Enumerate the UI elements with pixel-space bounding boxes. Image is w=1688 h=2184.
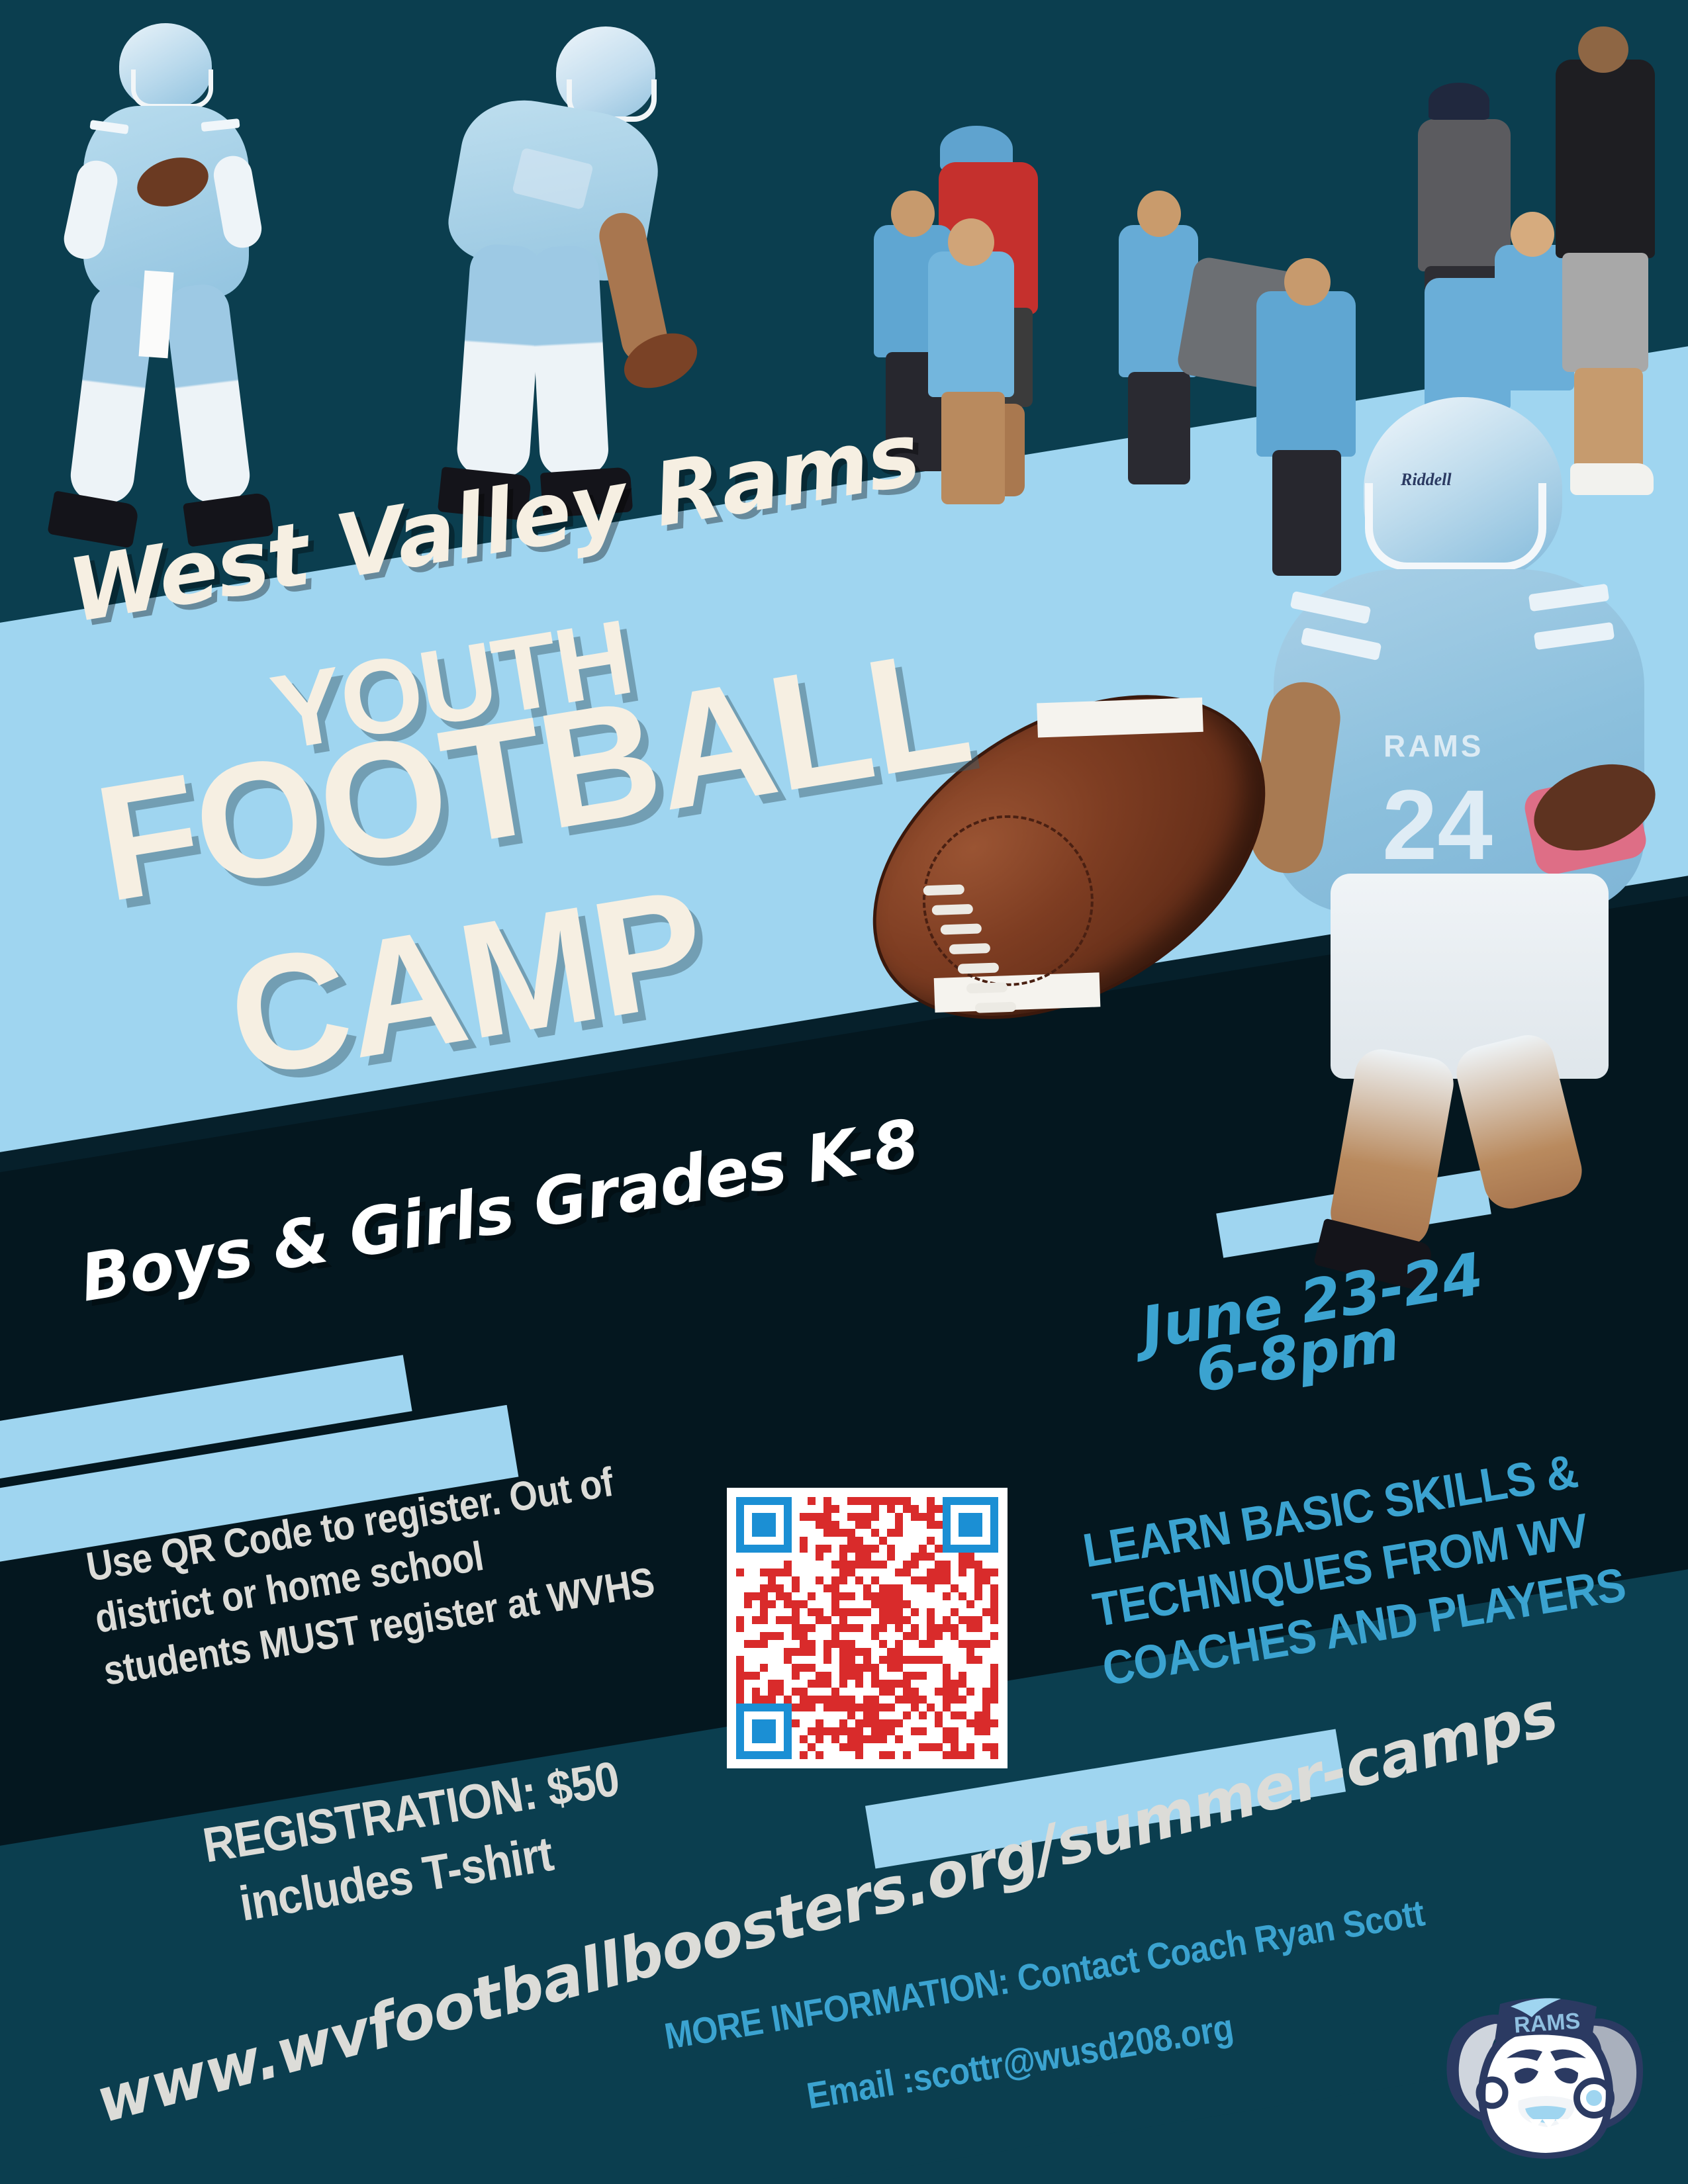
camp-teen-black-shirt: [1556, 60, 1655, 258]
qr-module: [744, 1696, 752, 1704]
football-stripe-top: [1037, 698, 1203, 738]
qr-module: [823, 1664, 831, 1672]
qr-module: [823, 1704, 831, 1711]
qr-module: [982, 1719, 990, 1727]
qr-module: [823, 1537, 831, 1545]
qr-module: [927, 1656, 935, 1664]
qr-module: [919, 1545, 927, 1553]
qr-module: [760, 1497, 768, 1505]
qr-module: [823, 1696, 831, 1704]
qr-module: [792, 1608, 800, 1616]
qr-module: [816, 1505, 823, 1513]
qr-module: [839, 1648, 847, 1656]
qr-module: [800, 1545, 808, 1553]
qr-module: [863, 1616, 871, 1624]
qr-module: [959, 1513, 966, 1521]
qr-module: [966, 1600, 974, 1608]
qr-module: [966, 1513, 974, 1521]
qr-module: [966, 1640, 974, 1648]
qr-module: [768, 1664, 776, 1672]
qr-module: [966, 1743, 974, 1751]
qr-module: [895, 1537, 903, 1545]
qr-module: [855, 1719, 863, 1727]
qr-module: [935, 1608, 943, 1616]
qr-module: [879, 1497, 887, 1505]
qr-module: [752, 1576, 760, 1584]
qr-module: [911, 1727, 919, 1735]
qr-module: [959, 1553, 966, 1561]
qr-module: [895, 1672, 903, 1680]
qr-module: [887, 1735, 895, 1743]
qr-module: [800, 1696, 808, 1704]
qr-module: [816, 1521, 823, 1529]
qr-module: [959, 1569, 966, 1576]
qr-module: [911, 1537, 919, 1545]
qr-module: [768, 1696, 776, 1704]
qr-module: [895, 1632, 903, 1640]
qr-module: [911, 1680, 919, 1688]
qr-module: [752, 1592, 760, 1600]
qr-module: [863, 1640, 871, 1648]
qr-module: [784, 1711, 792, 1719]
qr-module: [752, 1751, 760, 1759]
qr-module: [752, 1672, 760, 1680]
qr-module: [966, 1497, 974, 1505]
qr-module: [974, 1576, 982, 1584]
qr-module: [863, 1711, 871, 1719]
qr-module: [776, 1600, 784, 1608]
qr-module: [927, 1711, 935, 1719]
qr-module: [752, 1632, 760, 1640]
qr-module: [943, 1608, 951, 1616]
camp-kid-2-legs: [941, 392, 1005, 504]
qr-module: [887, 1576, 895, 1584]
qr-module: [792, 1743, 800, 1751]
qr-module: [943, 1735, 951, 1743]
qr-module: [808, 1576, 816, 1584]
qr-module: [800, 1608, 808, 1616]
qr-module: [744, 1521, 752, 1529]
qr-module: [887, 1505, 895, 1513]
qr-module: [792, 1680, 800, 1688]
qr-module: [823, 1735, 831, 1743]
qr-module: [887, 1608, 895, 1616]
qr-module: [839, 1680, 847, 1688]
qr-module: [982, 1545, 990, 1553]
qr-module: [879, 1569, 887, 1576]
qr-module: [982, 1751, 990, 1759]
qr-module: [792, 1719, 800, 1727]
qr-module: [792, 1656, 800, 1664]
qr-module: [951, 1624, 959, 1632]
rb-facemask: [1365, 483, 1546, 570]
qr-module: [736, 1711, 744, 1719]
qr-module: [974, 1680, 982, 1688]
qr-module: [831, 1711, 839, 1719]
qr-module: [776, 1576, 784, 1584]
qr-module: [736, 1648, 744, 1656]
qr-module: [784, 1735, 792, 1743]
qr-module: [800, 1751, 808, 1759]
qr-module: [871, 1608, 879, 1616]
qr-module: [982, 1664, 990, 1672]
qr-module: [752, 1584, 760, 1592]
qr-module: [760, 1624, 768, 1632]
qr-module: [808, 1553, 816, 1561]
qr-module: [951, 1537, 959, 1545]
qr-module: [927, 1751, 935, 1759]
qr-module: [784, 1624, 792, 1632]
qr-module: [736, 1688, 744, 1696]
qr-module: [792, 1600, 800, 1608]
qr-module: [776, 1696, 784, 1704]
qr-module: [966, 1664, 974, 1672]
qr-module: [990, 1656, 998, 1664]
qr-module: [760, 1529, 768, 1537]
qr-module: [982, 1505, 990, 1513]
qr-module: [990, 1608, 998, 1616]
qr-module: [855, 1648, 863, 1656]
qr-module: [847, 1704, 855, 1711]
qr-module: [919, 1521, 927, 1529]
qr-module: [823, 1648, 831, 1656]
qr-module: [800, 1743, 808, 1751]
qr-module: [744, 1608, 752, 1616]
qr-module: [887, 1656, 895, 1664]
qr-module: [951, 1529, 959, 1537]
qr-module: [863, 1513, 871, 1521]
qr-module: [736, 1624, 744, 1632]
qr-module: [919, 1704, 927, 1711]
qr-module: [800, 1656, 808, 1664]
qr-module: [768, 1569, 776, 1576]
qr-module: [895, 1688, 903, 1696]
qr-module: [855, 1735, 863, 1743]
qr-module: [752, 1505, 760, 1513]
qr-module: [927, 1624, 935, 1632]
qr-module: [943, 1561, 951, 1569]
qr-module: [847, 1743, 855, 1751]
qr-module: [871, 1561, 879, 1569]
qr-module: [871, 1743, 879, 1751]
qr-module: [736, 1561, 744, 1569]
qr-module: [792, 1616, 800, 1624]
qr-module: [990, 1680, 998, 1688]
qr-module: [855, 1727, 863, 1735]
qr-module: [736, 1656, 744, 1664]
qr-module: [871, 1521, 879, 1529]
qr-module: [887, 1672, 895, 1680]
qr-module: [927, 1743, 935, 1751]
qr-module: [974, 1632, 982, 1640]
qr-module: [895, 1648, 903, 1656]
qr-module: [911, 1608, 919, 1616]
qr-module: [792, 1672, 800, 1680]
qr-module: [863, 1704, 871, 1711]
qr-module: [895, 1735, 903, 1743]
qr-module: [903, 1529, 911, 1537]
qr-module: [839, 1640, 847, 1648]
qr-module: [879, 1719, 887, 1727]
qr-module: [736, 1537, 744, 1545]
qr-module: [990, 1545, 998, 1553]
qr-module: [959, 1680, 966, 1688]
qr-module: [887, 1521, 895, 1529]
qr-module: [903, 1624, 911, 1632]
qr-module: [982, 1672, 990, 1680]
qr-module: [816, 1688, 823, 1696]
qr-module: [974, 1719, 982, 1727]
qr-module: [990, 1513, 998, 1521]
qr-module: [879, 1624, 887, 1632]
qr-module: [847, 1576, 855, 1584]
qr-module: [935, 1497, 943, 1505]
qr-module: [871, 1584, 879, 1592]
qr-module: [895, 1592, 903, 1600]
qr-module: [911, 1719, 919, 1727]
qr-module: [943, 1688, 951, 1696]
qr-module: [871, 1600, 879, 1608]
qr-module: [831, 1640, 839, 1648]
qr-module: [792, 1664, 800, 1672]
qr-module: [831, 1608, 839, 1616]
qr-module: [974, 1624, 982, 1632]
qr-module: [800, 1513, 808, 1521]
qr-module: [959, 1545, 966, 1553]
qr-module: [768, 1632, 776, 1640]
qr-module: [990, 1616, 998, 1624]
qr-module: [776, 1656, 784, 1664]
qr-module: [800, 1735, 808, 1743]
qr-module: [839, 1553, 847, 1561]
qr-module: [982, 1696, 990, 1704]
qr-module: [784, 1513, 792, 1521]
qr-module: [903, 1561, 911, 1569]
qr-module: [887, 1696, 895, 1704]
qr-module: [943, 1696, 951, 1704]
qr-module: [768, 1529, 776, 1537]
qr-module: [879, 1584, 887, 1592]
qr-module: [927, 1537, 935, 1545]
qr-module: [927, 1569, 935, 1576]
qr-module: [839, 1656, 847, 1664]
qr-module: [974, 1648, 982, 1656]
qr-module: [816, 1592, 823, 1600]
qr-module: [951, 1704, 959, 1711]
qr-module: [919, 1600, 927, 1608]
qr-module: [768, 1608, 776, 1616]
qr-module: [823, 1711, 831, 1719]
qr-module: [911, 1672, 919, 1680]
qr-module: [879, 1704, 887, 1711]
qr-module: [784, 1704, 792, 1711]
qr-module: [752, 1727, 760, 1735]
qr-module: [911, 1545, 919, 1553]
qr-module: [776, 1521, 784, 1529]
qr-module: [903, 1521, 911, 1529]
qr-module: [831, 1545, 839, 1553]
qr-module: [951, 1656, 959, 1664]
qr-module: [831, 1680, 839, 1688]
qr-module: [982, 1529, 990, 1537]
qr-module: [816, 1751, 823, 1759]
qr-module: [839, 1719, 847, 1727]
qr-module: [752, 1648, 760, 1656]
qr-module: [959, 1576, 966, 1584]
qr-module: [744, 1743, 752, 1751]
qr-module: [744, 1656, 752, 1664]
qr-module: [990, 1592, 998, 1600]
qr-module: [959, 1497, 966, 1505]
qr-module: [823, 1719, 831, 1727]
qr-module: [943, 1664, 951, 1672]
qr-module: [792, 1711, 800, 1719]
qr-module: [839, 1735, 847, 1743]
qr-module: [935, 1505, 943, 1513]
qr-module: [744, 1545, 752, 1553]
qr-module: [823, 1497, 831, 1505]
qr-module: [855, 1711, 863, 1719]
qr-module: [943, 1576, 951, 1584]
qr-code-icon[interactable]: [727, 1488, 1008, 1768]
qr-module: [839, 1727, 847, 1735]
qr-module: [847, 1616, 855, 1624]
qr-module: [879, 1735, 887, 1743]
qr-module: [903, 1704, 911, 1711]
qr-module: [831, 1704, 839, 1711]
qr-module: [847, 1592, 855, 1600]
qr-module: [776, 1545, 784, 1553]
qr-module: [800, 1704, 808, 1711]
qr-module: [752, 1704, 760, 1711]
qr-module: [752, 1743, 760, 1751]
qr-module: [800, 1711, 808, 1719]
qr-module: [792, 1648, 800, 1656]
qr-module: [966, 1576, 974, 1584]
qr-module: [768, 1719, 776, 1727]
qr-module: [792, 1537, 800, 1545]
qr-module: [808, 1505, 816, 1513]
qr-module: [871, 1616, 879, 1624]
qr-module: [831, 1656, 839, 1664]
qr-module: [816, 1537, 823, 1545]
qr-module: [911, 1553, 919, 1561]
qr-module: [887, 1751, 895, 1759]
qr-module: [784, 1680, 792, 1688]
qr-module: [855, 1592, 863, 1600]
qr-module: [966, 1656, 974, 1664]
qr-module: [776, 1584, 784, 1592]
qr-module: [816, 1648, 823, 1656]
qr-module: [935, 1576, 943, 1584]
qr-module: [990, 1727, 998, 1735]
qr-module: [990, 1711, 998, 1719]
qr-module: [871, 1537, 879, 1545]
qr-module: [895, 1719, 903, 1727]
qr-module: [760, 1513, 768, 1521]
qr-module: [879, 1592, 887, 1600]
qr-module: [895, 1529, 903, 1537]
qr-module: [879, 1576, 887, 1584]
qr-module: [784, 1727, 792, 1735]
qr-module: [784, 1600, 792, 1608]
qr-module: [808, 1696, 816, 1704]
qr-module: [744, 1529, 752, 1537]
qr-module: [839, 1584, 847, 1592]
qr-module: [863, 1569, 871, 1576]
qr-module: [744, 1576, 752, 1584]
qr-module: [776, 1513, 784, 1521]
qr-module: [808, 1680, 816, 1688]
qr-module: [784, 1521, 792, 1529]
qr-module: [784, 1545, 792, 1553]
qr-module: [744, 1561, 752, 1569]
qr-module: [768, 1743, 776, 1751]
qr-module: [760, 1569, 768, 1576]
qr-module: [871, 1696, 879, 1704]
qr-module: [919, 1553, 927, 1561]
qr-module: [831, 1561, 839, 1569]
qr-module: [752, 1537, 760, 1545]
qr-module: [744, 1735, 752, 1743]
qr-module: [935, 1672, 943, 1680]
qr-module: [839, 1600, 847, 1608]
qr-module: [990, 1553, 998, 1561]
qr-module: [760, 1711, 768, 1719]
qr-module: [800, 1664, 808, 1672]
lineman-leg-right: [529, 245, 610, 478]
qr-module: [839, 1497, 847, 1505]
qr-module: [752, 1529, 760, 1537]
qr-module: [927, 1632, 935, 1640]
qr-module: [927, 1735, 935, 1743]
qr-module: [982, 1632, 990, 1640]
qr-module: [911, 1576, 919, 1584]
qr-module: [927, 1704, 935, 1711]
qr-module: [839, 1576, 847, 1584]
qr-module: [736, 1672, 744, 1680]
qr-module: [808, 1497, 816, 1505]
qr-module: [966, 1711, 974, 1719]
qr-module: [927, 1688, 935, 1696]
qr-module: [919, 1616, 927, 1624]
qr-module: [800, 1497, 808, 1505]
qr-module: [959, 1640, 966, 1648]
qr-module: [943, 1624, 951, 1632]
qr-module: [935, 1704, 943, 1711]
qr-module: [768, 1751, 776, 1759]
qr-module: [919, 1592, 927, 1600]
qr-module: [887, 1680, 895, 1688]
qr-module: [831, 1569, 839, 1576]
qr-module: [959, 1727, 966, 1735]
qr-module: [959, 1735, 966, 1743]
qr-module: [903, 1632, 911, 1640]
qr-module: [831, 1553, 839, 1561]
qr-module: [760, 1664, 768, 1672]
qr-module: [919, 1576, 927, 1584]
qr-module: [784, 1537, 792, 1545]
qr-module: [871, 1648, 879, 1656]
qr-module: [990, 1648, 998, 1656]
qr-module: [935, 1624, 943, 1632]
qr-module: [863, 1592, 871, 1600]
qr-module: [951, 1696, 959, 1704]
qr-module: [847, 1505, 855, 1513]
qr-module: [959, 1592, 966, 1600]
qr-module: [895, 1624, 903, 1632]
qr-module: [831, 1497, 839, 1505]
